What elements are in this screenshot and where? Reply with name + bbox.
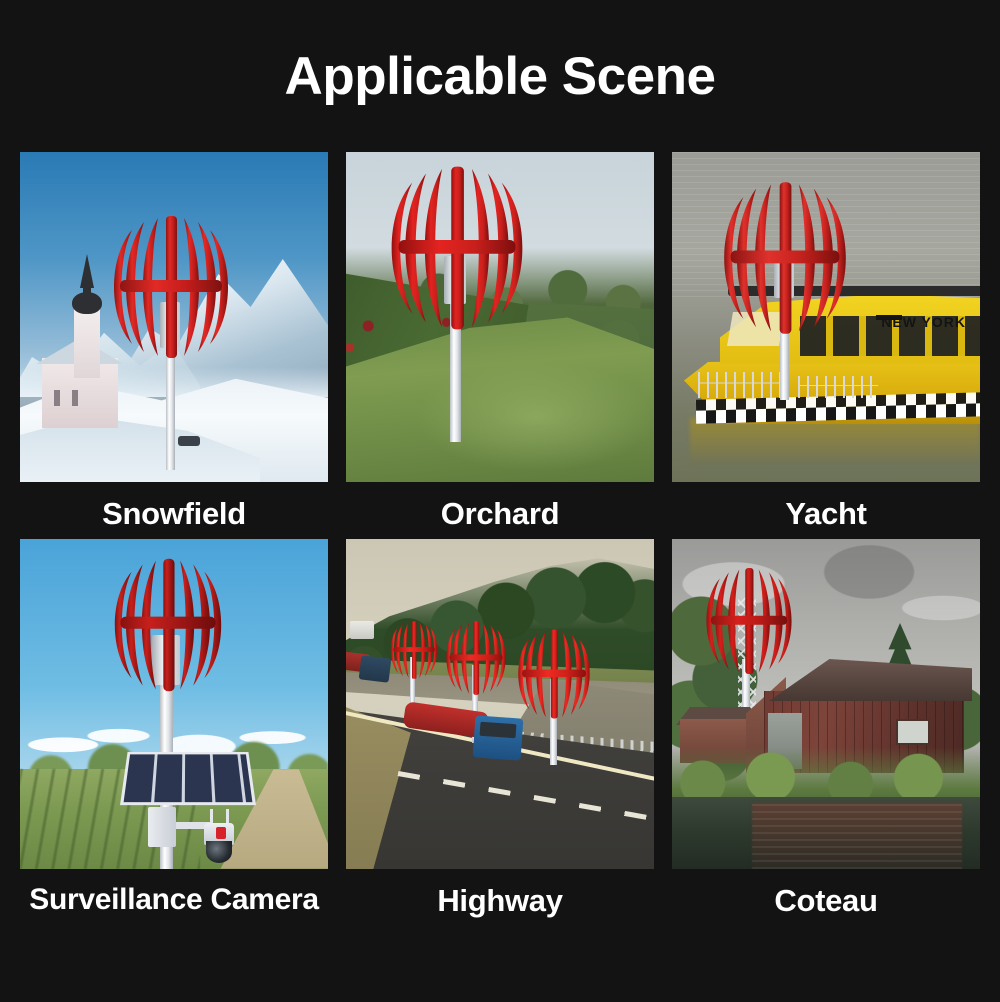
church-tower — [74, 306, 100, 378]
second-truck-cab — [359, 655, 392, 682]
boat-name-text: NEW YORK — [881, 314, 966, 330]
camera-indicator-light — [216, 827, 226, 839]
barn-window — [896, 719, 930, 745]
scene-label-highway: Highway — [346, 869, 654, 916]
applicable-scene-page: Applicable Scene — [0, 0, 1000, 1002]
scene-photo-coteau — [672, 539, 980, 869]
distant-truck — [350, 621, 374, 639]
scene-card-surveillance-camera[interactable]: Surveillance Camera — [20, 539, 328, 916]
car — [178, 436, 200, 446]
wind-turbine — [376, 162, 538, 334]
scene-label-snowfield: Snowfield — [20, 482, 328, 529]
scene-card-orchard[interactable]: Orchard — [346, 152, 654, 529]
scene-label-coteau: Coteau — [672, 869, 980, 916]
scene-card-snowfield[interactable]: Snowfield — [20, 152, 328, 529]
scene-label-orchard: Orchard — [346, 482, 654, 529]
equipment-box — [148, 807, 176, 847]
wind-turbine — [684, 565, 814, 677]
wind-turbine — [386, 619, 442, 681]
wind-turbine — [710, 178, 860, 338]
wind-turbine — [102, 212, 240, 362]
scene-photo-orchard — [346, 152, 654, 482]
page-title: Applicable Scene — [0, 48, 1000, 106]
church-window — [54, 390, 60, 406]
scene-photo-surveillance-camera — [20, 539, 328, 869]
scene-grid: Snowfield — [20, 152, 980, 916]
wind-turbine — [70, 555, 266, 695]
wind-turbine — [510, 627, 598, 721]
scene-card-yacht[interactable]: NEW YORK — [672, 152, 980, 529]
scene-photo-highway — [346, 539, 654, 869]
scene-card-highway[interactable]: Highway — [346, 539, 654, 916]
water-reflection-lines — [752, 803, 962, 869]
boat-railing — [698, 372, 788, 398]
scene-label-surveillance-camera: Surveillance Camera — [20, 869, 328, 915]
scene-card-coteau[interactable]: Coteau — [672, 539, 980, 916]
scene-photo-snowfield — [20, 152, 328, 482]
church-window — [72, 390, 78, 406]
boat-reflection — [690, 418, 980, 464]
truck-windshield — [480, 722, 517, 738]
ptz-camera-dome — [206, 841, 232, 863]
solar-panel — [120, 752, 256, 805]
wind-turbine — [440, 619, 512, 697]
scene-photo-yacht: NEW YORK — [672, 152, 980, 482]
boat-railing — [798, 376, 878, 398]
scene-label-yacht: Yacht — [672, 482, 980, 529]
